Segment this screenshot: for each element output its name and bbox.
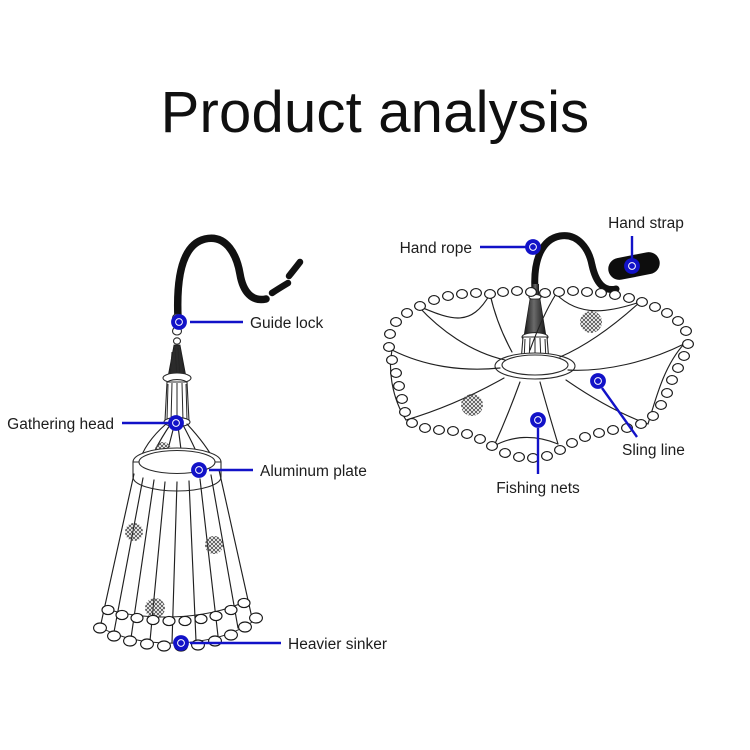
target-marker-icon[interactable] <box>169 416 183 430</box>
hand-rope-shape-right <box>535 236 616 290</box>
open-net-hub <box>495 284 575 379</box>
callout-label-heavier-sinker: Heavier sinker <box>288 636 387 653</box>
target-marker-icon[interactable] <box>174 636 188 650</box>
callout-heavier-sinker[interactable]: Heavier sinker <box>174 636 387 653</box>
closed-net-shaft <box>168 345 186 377</box>
callout-guide-lock[interactable]: Guide lock <box>172 315 324 332</box>
target-marker-icon[interactable] <box>531 413 545 427</box>
callout-label-aluminum-plate: Aluminum plate <box>260 463 367 480</box>
callout-label-fishing-nets: Fishing nets <box>496 480 580 497</box>
hand-rope-shape-left <box>178 238 300 318</box>
callout-label-guide-lock: Guide lock <box>250 315 323 332</box>
diagram-canvas: Guide lockGathering headAluminum plateHe… <box>0 0 750 750</box>
target-marker-icon[interactable] <box>192 463 206 477</box>
target-marker-icon[interactable] <box>625 259 639 273</box>
callout-label-sling-line: Sling line <box>622 442 685 459</box>
callout-sling-line[interactable]: Sling line <box>591 374 685 459</box>
closed-net-illustration <box>94 238 300 651</box>
callout-label-hand-strap: Hand strap <box>608 215 684 232</box>
target-marker-icon[interactable] <box>591 374 605 388</box>
callout-hand-rope[interactable]: Hand rope <box>400 240 541 257</box>
target-marker-icon[interactable] <box>526 240 540 254</box>
callout-gathering-head[interactable]: Gathering head <box>7 416 183 433</box>
callout-label-gathering-head: Gathering head <box>7 416 114 433</box>
callout-label-hand-rope: Hand rope <box>400 240 472 257</box>
target-marker-icon[interactable] <box>172 315 186 329</box>
product-analysis-diagram: Product analysis <box>0 0 750 750</box>
